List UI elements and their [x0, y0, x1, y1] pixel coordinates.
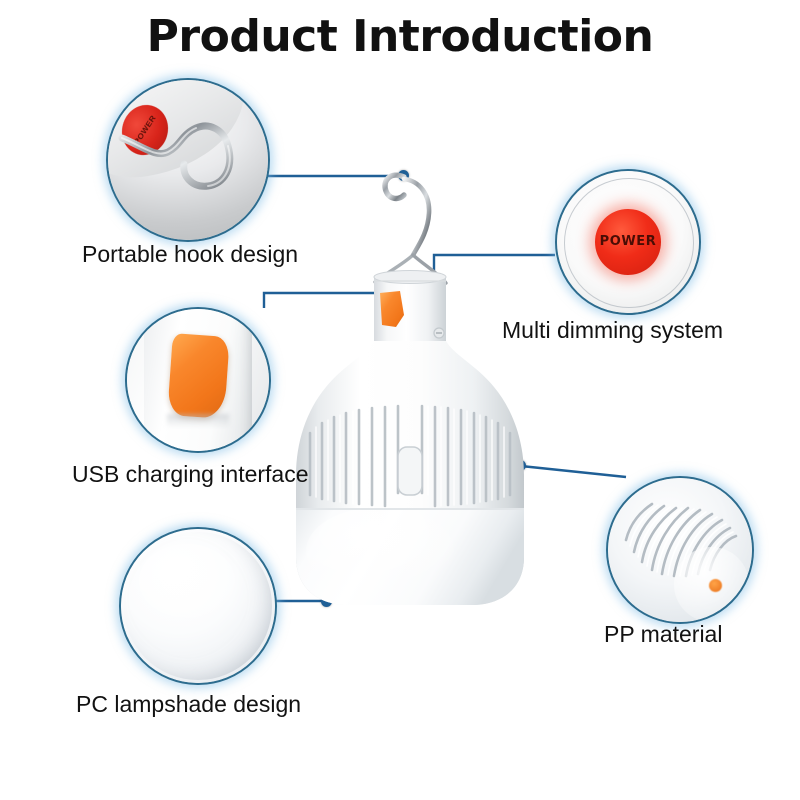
- callout-label-pc-lampshade: PC lampshade design: [76, 690, 301, 718]
- usb-rubber-flap-icon: [167, 333, 229, 419]
- page-title: Product Introduction: [0, 10, 800, 64]
- callout-bubble-multi-dimming[interactable]: POWER: [555, 169, 701, 315]
- power-button-icon[interactable]: POWER: [595, 209, 660, 274]
- hook-wire-icon: [108, 80, 268, 240]
- callout-bubble-pc-lampshade[interactable]: [119, 527, 277, 685]
- infographic-canvas: Product Introduction: [0, 0, 800, 800]
- callout-label-portable-hook: Portable hook design: [82, 240, 298, 268]
- product-image-led-bulb: [270, 165, 550, 635]
- pp-macro-orange-hint: [709, 579, 722, 592]
- callout-bubble-portable-hook[interactable]: POWER: [106, 78, 270, 242]
- callout-bubble-pp-material[interactable]: [606, 476, 754, 624]
- callout-label-multi-dimming: Multi dimming system: [502, 316, 723, 344]
- hook-icon: [375, 175, 446, 283]
- callout-label-usb-charging: USB charging interface: [72, 460, 309, 488]
- power-button-text: POWER: [600, 234, 657, 249]
- usb-macro-shadow: [167, 414, 229, 428]
- callout-label-pp-material: PP material: [604, 620, 722, 648]
- callout-bubble-usb-charging[interactable]: [125, 307, 271, 453]
- lampshade-edge-shade: [124, 532, 272, 680]
